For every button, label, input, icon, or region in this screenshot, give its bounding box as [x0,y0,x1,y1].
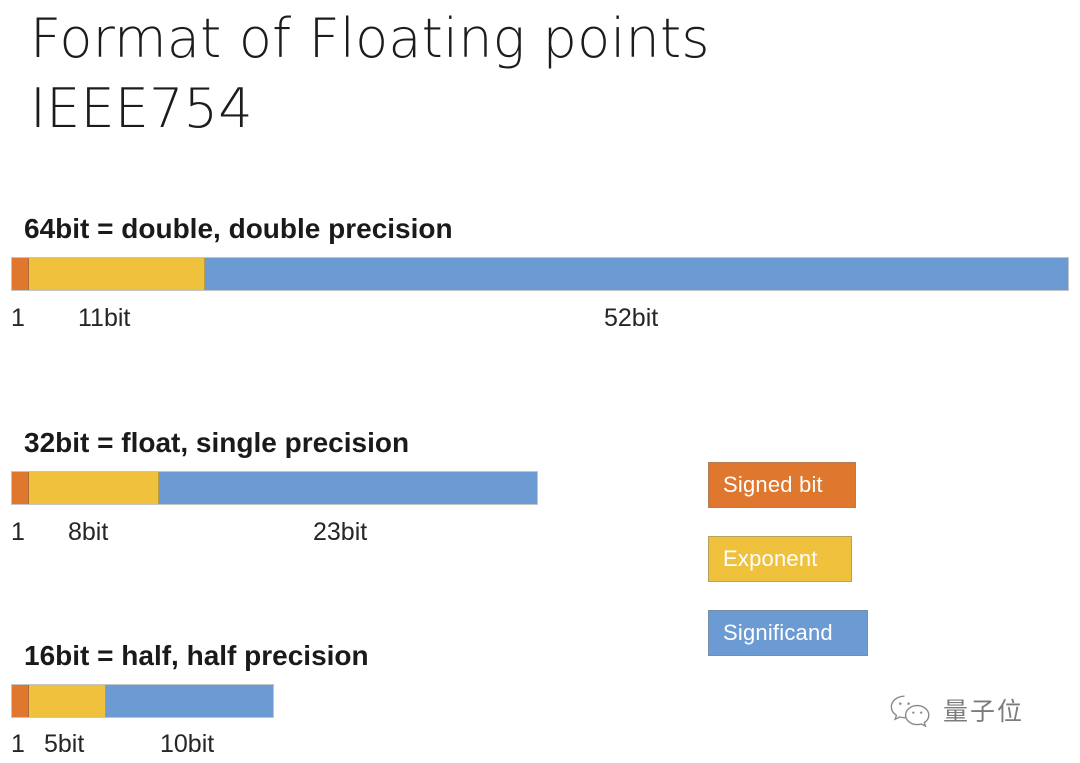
format-heading-16bit: 16bit = half, half precision [24,639,369,673]
watermark-text: 量子位 [943,698,1024,726]
segment-signed-bit-16 [12,685,29,717]
legend-item-exponent: Exponent [708,536,852,582]
bit-label-exponent-16: 5bit [44,729,84,759]
segment-exponent-16 [29,685,106,717]
legend-label-exponent: Exponent [723,546,818,572]
segment-exponent-64 [29,258,205,290]
bit-label-significand-32: 23bit [313,517,367,547]
bit-label-significand-64: 52bit [604,303,658,333]
legend-label-signed-bit: Signed bit [723,472,823,498]
bit-label-signed-32: 1 [11,517,25,547]
page-title: Format of Floating points IEEE754 [30,4,930,144]
legend-item-significand: Significand [708,610,868,656]
segment-exponent-32 [29,472,159,504]
segment-signed-bit-32 [12,472,29,504]
legend-label-significand: Significand [723,620,833,646]
watermark: 量子位 [888,692,1024,732]
bit-bar-16bit [11,684,274,718]
bit-label-significand-16: 10bit [160,729,214,759]
format-heading-64bit: 64bit = double, double precision [24,212,453,246]
wechat-icon [888,692,934,732]
segment-significand-64 [205,258,1068,290]
bit-label-signed-16: 1 [11,729,25,759]
bit-labels-32bit: 1 8bit 23bit [0,517,1080,551]
bit-bar-64bit [11,257,1069,291]
legend-item-signed-bit: Signed bit [708,462,856,508]
bit-label-exponent-64: 11bit [78,303,130,333]
segment-signed-bit-64 [12,258,29,290]
format-heading-32bit: 32bit = float, single precision [24,426,409,460]
bit-label-exponent-32: 8bit [68,517,108,547]
bit-label-signed-64: 1 [11,303,25,333]
segment-significand-32 [159,472,537,504]
bit-labels-16bit: 1 5bit 10bit [0,729,1080,763]
segment-significand-16 [106,685,273,717]
bit-bar-32bit [11,471,538,505]
bit-labels-64bit: 1 11bit 52bit [0,303,1080,337]
